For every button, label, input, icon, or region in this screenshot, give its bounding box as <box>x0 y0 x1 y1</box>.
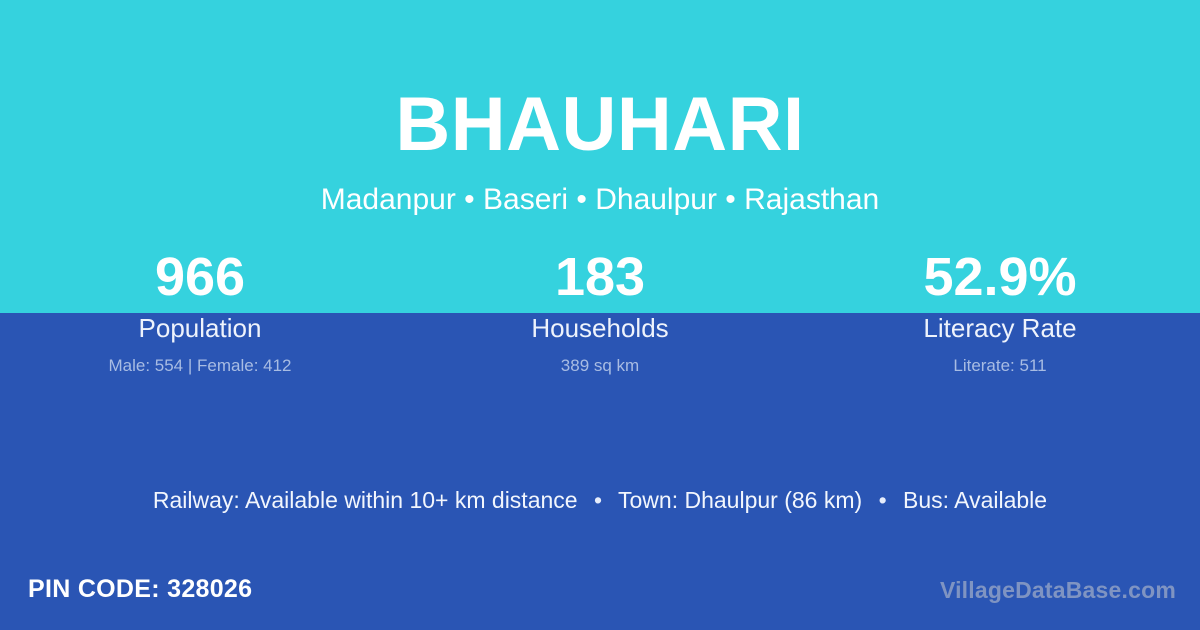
facility-separator-2: • <box>869 487 897 513</box>
brand-watermark: VillageDataBase.com <box>940 574 1176 606</box>
facilities-row: Railway: Available within 10+ km distanc… <box>0 484 1200 516</box>
facility-railway: Railway: Available within 10+ km distanc… <box>153 487 578 513</box>
pin-code: PIN CODE: 328026 <box>28 572 252 606</box>
stat-sub-population: Male: 554 | Female: 412 <box>0 356 400 376</box>
stat-value-literacy-rate: 52.9% <box>800 246 1200 308</box>
card-footer: PIN CODE: 328026 VillageDataBase.com <box>0 572 1200 630</box>
stat-sub-households: 389 sq km <box>400 356 800 376</box>
page-title: BHAUHARI <box>0 82 1200 168</box>
facility-town: Town: Dhaulpur (86 km) <box>618 487 862 513</box>
stat-label-population: Population <box>0 313 400 343</box>
stat-literacy-rate: 52.9% Literacy Rate Literate: 511 <box>800 246 1200 376</box>
stat-value-households: 183 <box>400 246 800 308</box>
stat-label-literacy-rate: Literacy Rate <box>800 313 1200 343</box>
facility-bus: Bus: Available <box>903 487 1047 513</box>
stat-population: 966 Population Male: 554 | Female: 412 <box>0 246 400 376</box>
stat-label-households: Households <box>400 313 800 343</box>
stat-value-population: 966 <box>0 246 400 308</box>
stat-sub-literacy-rate: Literate: 511 <box>800 356 1200 376</box>
village-info-card: BHAUHARI Madanpur • Baseri • Dhaulpur • … <box>0 0 1200 630</box>
stats-row: 966 Population Male: 554 | Female: 412 1… <box>0 246 1200 376</box>
facility-separator-1: • <box>584 487 612 513</box>
breadcrumb: Madanpur • Baseri • Dhaulpur • Rajasthan <box>0 181 1200 219</box>
stat-households: 183 Households 389 sq km <box>400 246 800 376</box>
